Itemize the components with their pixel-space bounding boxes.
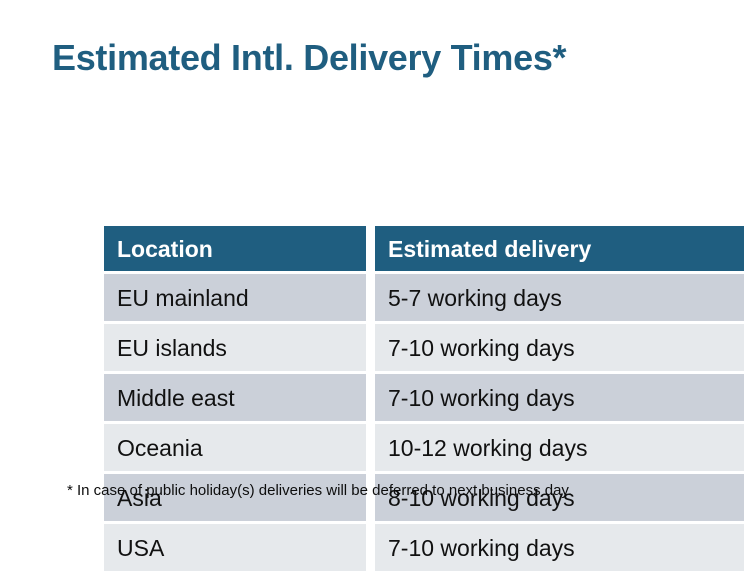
cell-estimated-delivery: 5-7 working days — [375, 274, 744, 321]
cell-estimated-delivery: 10-12 working days — [375, 424, 744, 471]
column-header-estimated-delivery: Estimated delivery — [375, 226, 744, 271]
table-body: EU mainland 5-7 working days EU islands … — [104, 274, 744, 571]
cell-estimated-delivery: 7-10 working days — [375, 324, 744, 371]
delivery-times-page: Estimated Intl. Delivery Times* Location… — [0, 0, 745, 536]
table-header: Location Estimated delivery — [104, 226, 744, 271]
cell-location: Oceania — [104, 424, 366, 471]
table-row: EU mainland 5-7 working days — [104, 274, 744, 321]
page-title: Estimated Intl. Delivery Times* — [52, 36, 566, 80]
cell-estimated-delivery: 7-10 working days — [375, 374, 744, 421]
table-row: EU islands 7-10 working days — [104, 324, 744, 371]
cell-location: EU mainland — [104, 274, 366, 321]
table-row: Middle east 7-10 working days — [104, 374, 744, 421]
footnote-text: * In case of public holiday(s) deliverie… — [67, 481, 572, 501]
cell-location: Middle east — [104, 374, 366, 421]
cell-location: EU islands — [104, 324, 366, 371]
table-row: USA 7-10 working days — [104, 524, 744, 571]
column-header-location: Location — [104, 226, 366, 271]
estimated-delivery-times-table: Location Estimated delivery EU mainland … — [95, 223, 745, 574]
cell-location: USA — [104, 524, 366, 571]
cell-estimated-delivery: 7-10 working days — [375, 524, 744, 571]
table-header-row: Location Estimated delivery — [104, 226, 744, 271]
table-row: Oceania 10-12 working days — [104, 424, 744, 471]
